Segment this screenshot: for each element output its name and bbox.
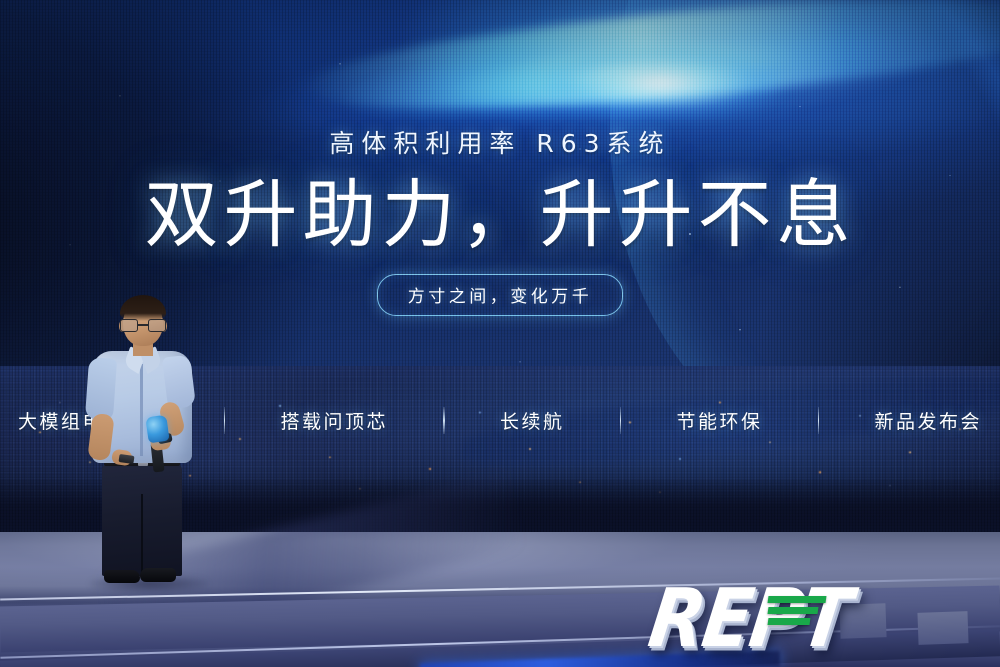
feature-item-2: 长续航 xyxy=(500,407,565,434)
feature-divider-3 xyxy=(818,407,820,434)
feature-divider-0 xyxy=(224,407,226,434)
slide-subtitle: 高体积利用率 R63系统 xyxy=(0,124,1000,160)
feature-item-3: 节能环保 xyxy=(676,407,762,434)
speaker-shirt-placket xyxy=(140,364,143,456)
speaker-glasses xyxy=(119,319,167,332)
speaker-sleeve-right xyxy=(162,354,196,409)
stage-scene: 高体积利用率 R63系统 双升助力，升升不息 方寸之间，变化万千 大模组电池系统… xyxy=(0,0,1000,667)
slide-tagline-pill: 方寸之间，变化万千 xyxy=(377,274,624,316)
glasses-bridge xyxy=(138,324,148,326)
speaker-shoe-left xyxy=(104,570,140,583)
rept-logo-accent-bars xyxy=(768,596,826,629)
speaker-presenter xyxy=(86,298,198,590)
feature-divider-2 xyxy=(620,407,622,434)
rept-accent-bar-2 xyxy=(768,607,819,614)
speaker-leg-seam xyxy=(141,494,143,576)
rept-accent-bar-3 xyxy=(768,618,811,625)
glasses-lens-left xyxy=(120,319,138,332)
rept-accent-bar-1 xyxy=(768,596,827,603)
feature-item-1: 搭载问顶芯 xyxy=(280,407,388,434)
speaker-hair xyxy=(120,295,166,321)
feature-item-4: 新品发布会 xyxy=(874,407,982,434)
feature-divider-1 xyxy=(443,407,445,434)
microphone-head xyxy=(145,415,169,444)
speaker-sleeve-left xyxy=(85,357,117,421)
speaker-shoe-right xyxy=(140,568,176,582)
glasses-lens-right xyxy=(148,319,166,332)
rept-logo: REPT xyxy=(650,578,1000,658)
slide-headline: 双升助力，升升不息 xyxy=(0,172,1000,258)
